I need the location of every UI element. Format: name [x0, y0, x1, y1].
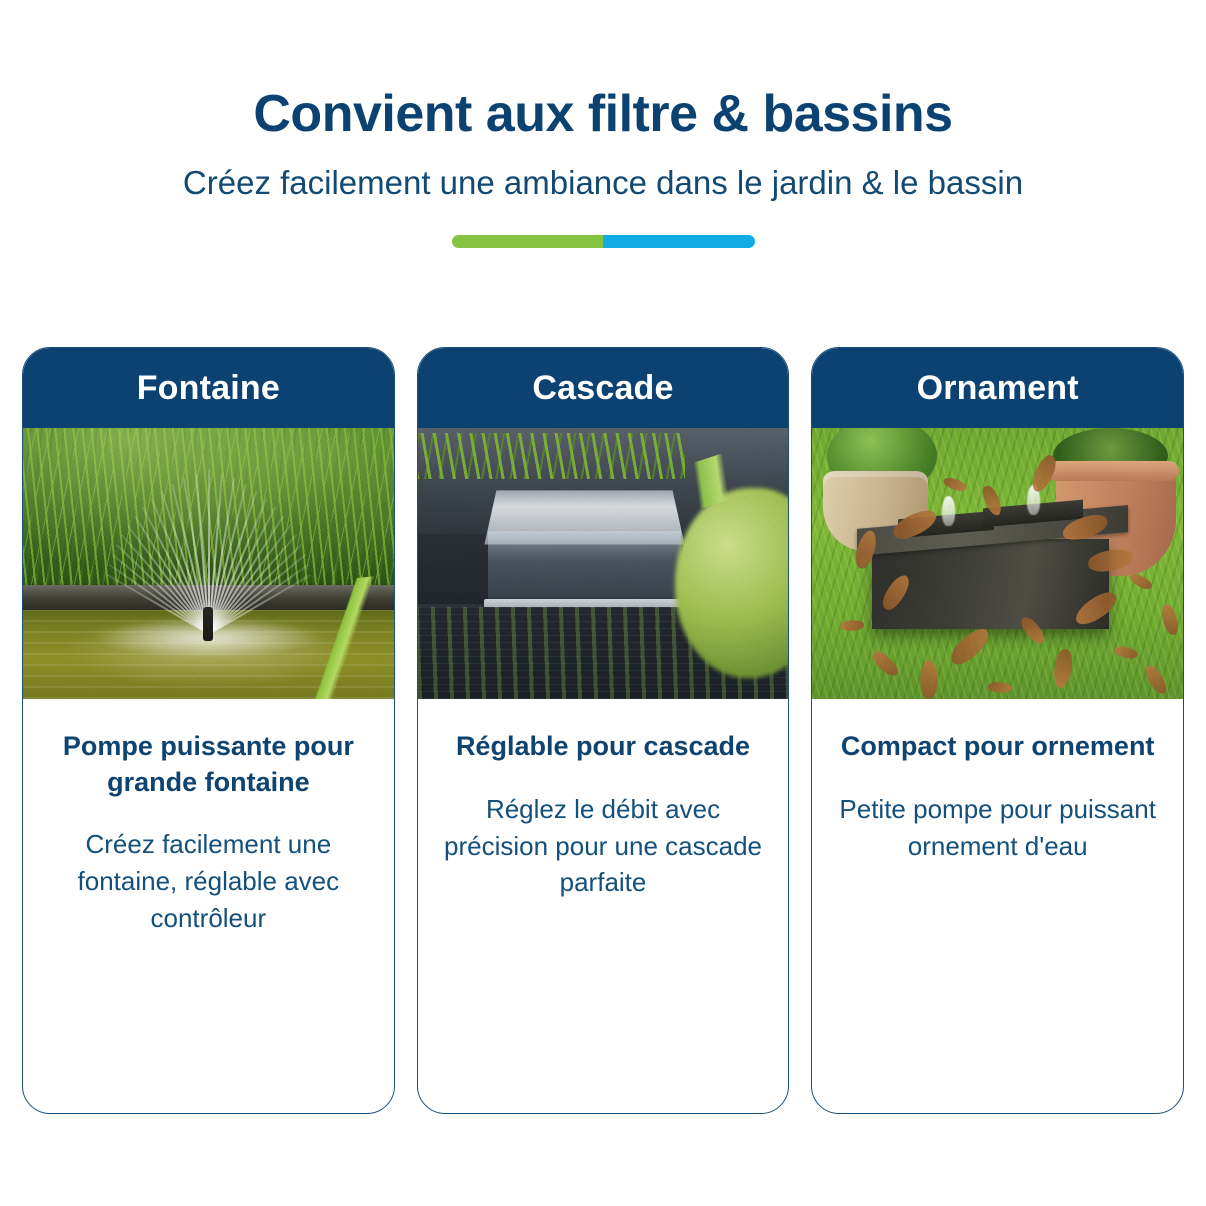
divider-segment-blue [603, 235, 755, 248]
promo-banner: Convient aux filtre & bassins Créez faci… [0, 0, 1206, 1206]
card-body-cascade: Réglable pour cascade Réglez le débit av… [418, 699, 789, 1113]
autumn-leaf [840, 620, 864, 631]
page-title: Convient aux filtre & bassins [0, 86, 1206, 143]
card-heading: Compact pour ornement [834, 729, 1161, 765]
hero-section: Convient aux filtre & bassins Créez faci… [0, 0, 1206, 248]
pond-fountain-spray-photo [23, 428, 394, 699]
feature-card-fontaine[interactable]: Fontaine Pompe puissante pour grande fon… [22, 347, 395, 1114]
card-header-cascade: Cascade [418, 348, 789, 428]
fountain-nozzle [203, 607, 213, 641]
right-pot-rim [1047, 461, 1179, 481]
card-body-ornament: Compact pour ornement Petite pompe pour … [812, 699, 1183, 1113]
card-description: Créez facilement une fontaine, réglable … [45, 826, 372, 937]
water-jet-left [942, 496, 955, 526]
foreground-reed-leaf [260, 572, 394, 699]
feature-card-cascade[interactable]: Cascade Réglable pour cascade Réglez le … [417, 347, 790, 1114]
card-description: Réglez le débit avec précision pour une … [440, 791, 767, 902]
page-subtitle: Créez facilement une ambiance dans le ja… [0, 163, 1206, 203]
card-heading: Pompe puissante pour grande fontaine [45, 729, 372, 800]
divider [0, 235, 1206, 248]
card-header-fontaine: Fontaine [23, 348, 394, 428]
card-header-title: Cascade [532, 369, 673, 408]
divider-segment-green [452, 235, 604, 248]
granite-water-ornament-photo [812, 428, 1183, 699]
water-sheet [488, 531, 681, 607]
feature-card-list: Fontaine Pompe puissante pour grande fon… [22, 347, 1184, 1114]
card-header-title: Fontaine [137, 369, 280, 408]
card-body-fontaine: Pompe puissante pour grande fontaine Cré… [23, 699, 394, 1113]
card-heading: Réglable pour cascade [440, 729, 767, 765]
feature-card-ornament[interactable]: Ornament Compact pour ornement [811, 347, 1184, 1114]
card-description: Petite pompe pour puissant ornement d'ea… [834, 791, 1161, 865]
card-header-ornament: Ornament [812, 348, 1183, 428]
stainless-waterfall-spillway-photo [418, 428, 789, 699]
card-header-title: Ornament [917, 369, 1079, 408]
two-tone-divider-bar [452, 235, 755, 248]
